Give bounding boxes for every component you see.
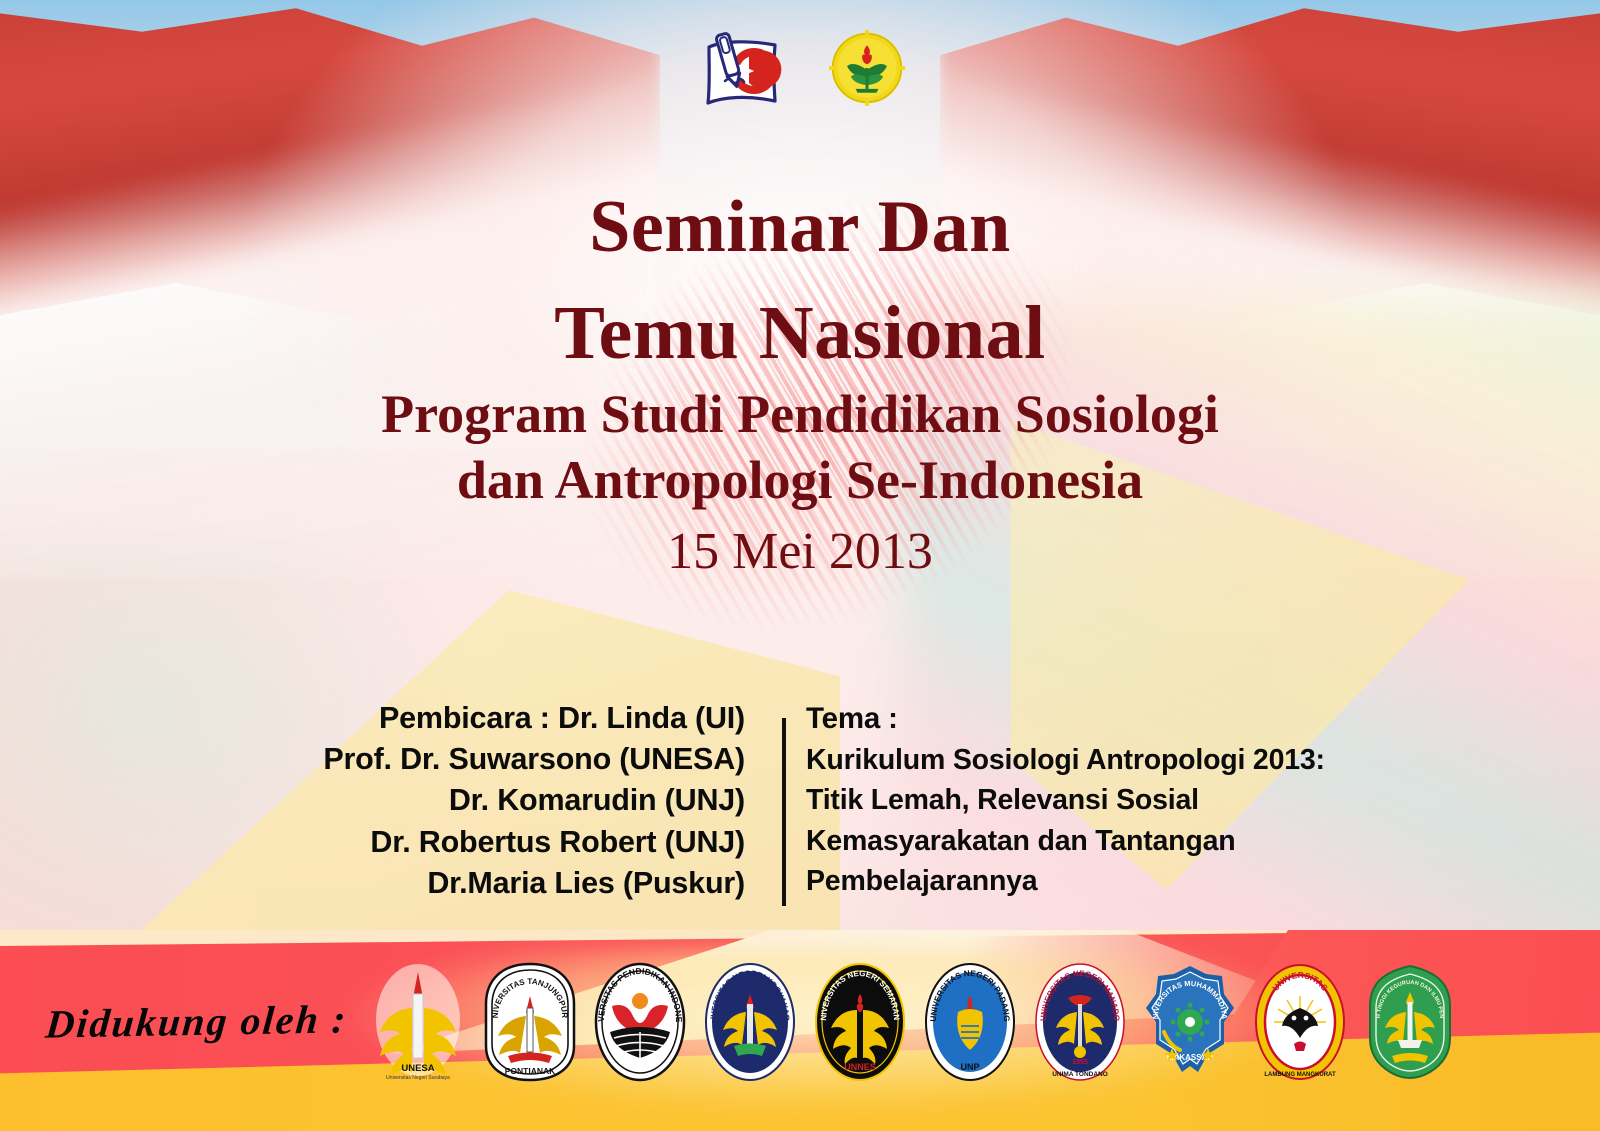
unnes-logo: UNIVERSITAS NEGERI SEMARANG UNNES: [810, 960, 910, 1089]
supporters-label: Didukung oleh :: [44, 995, 350, 1047]
unesa-label: UNESA: [401, 1063, 434, 1074]
title-block: Seminar Dan Temu Nasional Program Studi …: [0, 184, 1600, 585]
poster-canvas: Seminar Dan Temu Nasional Program Studi …: [0, 0, 1600, 1131]
unima-label: UNIMA TONDANO: [1052, 1071, 1108, 1078]
title-line-2: Temu Nasional: [0, 291, 1600, 376]
speaker-list: Pembicara : Dr. Linda (UI) Prof. Dr. Suw…: [200, 698, 745, 904]
untan-label: PONTIANAK: [505, 1066, 556, 1076]
upi-logo: UNIVERSITAS PENDIDIKAN INDONESIA: [590, 960, 690, 1089]
untan-pontianak-logo: UNIVERSITAS TANJUNGPURA PONTIANAK: [480, 960, 580, 1089]
supporter-logos: UNESA Universitas Negeri Surabaya UNIVER…: [366, 960, 1586, 1088]
info-section: Pembicara : Dr. Linda (UI) Prof. Dr. Suw…: [0, 698, 1600, 918]
unesa-sublabel: Universitas Negeri Surabaya: [386, 1075, 450, 1081]
vertical-divider: [782, 718, 786, 906]
speaker-line: Pembicara : Dr. Linda (UI): [200, 698, 745, 739]
stkip-logo: SEKOLAH TINGGI KEGURUAN DAN ILMU PENDIDI…: [1360, 960, 1460, 1089]
unima-year: 1955: [1072, 1059, 1088, 1066]
event-date: 15 Mei 2013: [0, 520, 1600, 584]
theme-line: Kemasyarakatan dan Tantangan: [806, 821, 1466, 861]
theme-heading: Tema :: [806, 698, 1466, 740]
theme-line: Kurikulum Sosiologi Antropologi 2013:: [806, 740, 1466, 780]
uny-logo: UNIVERSITAS NEGERI YOGYAKARTA: [700, 960, 800, 1089]
theme-line: Pembelajarannya: [806, 861, 1466, 901]
unj-seal-logo: [829, 30, 905, 106]
unp-padang-logo: UNIVERSITAS NEGERI PADANG UNP: [920, 960, 1020, 1089]
header-logos: [0, 18, 1600, 118]
title-line-1: Seminar Dan: [0, 184, 1600, 271]
unesa-logo: UNESA Universitas Negeri Surabaya: [366, 960, 470, 1089]
unima-tondano-logo: UNIVERSITAS NEGERI MANADO 1955 UNIMA TON…: [1030, 960, 1130, 1089]
ulm-label: LAMBUNG MANGKURAT: [1264, 1072, 1336, 1078]
theme-line: Titik Lemah, Relevansi Sosial: [806, 780, 1466, 820]
unlam-mangkurat-logo: UNIVERSITAS LAMBUNG MANGKURAT: [1250, 960, 1350, 1089]
speaker-line: Dr.Maria Lies (Puskur): [200, 863, 745, 904]
speaker-line: Prof. Dr. Suwarsono (UNESA): [200, 739, 745, 780]
speaker-line: Dr. Komarudin (UNJ): [200, 780, 745, 821]
speaker-line: Dr. Robertus Robert (UNJ): [200, 822, 745, 863]
footer-band: Didukung oleh : UNESA Universitas Negeri…: [0, 930, 1600, 1131]
subtitle-line-1: Program Studi Pendidikan Sosiologi: [0, 382, 1600, 448]
subtitle-line-2: dan Antropologi Se-Indonesia: [0, 448, 1600, 514]
pen-paper-logo: [695, 27, 785, 109]
theme-block: Tema : Kurikulum Sosiologi Antropologi 2…: [806, 698, 1466, 902]
unismuh-makassar-logo: UNIVERSITAS MUHAMMADIYAH: [1140, 960, 1240, 1089]
unp-label: UNP: [960, 1062, 979, 1072]
unnes-label: UNNES: [844, 1062, 876, 1072]
